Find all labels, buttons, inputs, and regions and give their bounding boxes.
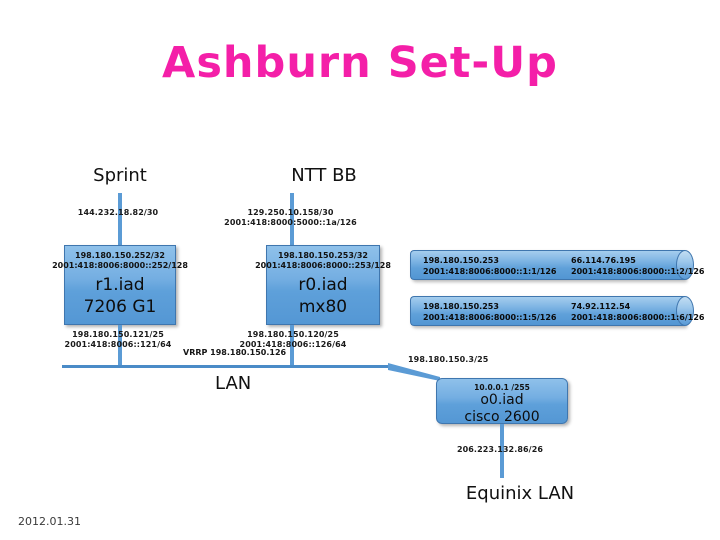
peering-bar-1[interactable]: 198.180.150.253 2001:418:8006:8000::1:1/… <box>410 250 685 280</box>
peering-bar-1-peer: 66.114.76.195 2001:418:8006:8000::1:2/12… <box>571 255 704 277</box>
lan-label: LAN <box>215 373 251 394</box>
node-r0-ipv4: 198.180.150.253/32 <box>278 251 368 260</box>
peering-bar-2[interactable]: 198.180.150.253 2001:418:8006:8000::1:5/… <box>410 296 685 326</box>
peering-bar-2-local-v6: 2001:418:8006:8000::1:5/126 <box>423 313 556 322</box>
provider-label-sprint: Sprint <box>62 165 178 186</box>
link-line-lan-to-o0 <box>388 363 440 381</box>
node-r1-ipv6: 2001:418:8006:8000::252/128 <box>52 261 188 270</box>
uplink-label-ntt-v4: 129.250.10.158/30 <box>218 208 363 218</box>
vrrp-label: VRRP 198.180.150.126 <box>183 348 286 357</box>
uplink-label-ntt-v6: 2001:418:8000:5000::1a/126 <box>218 218 363 228</box>
downlink-label-o0: 206.223.132.86/26 <box>440 445 560 455</box>
downlink-label-r0-v4: 198.180.150.120/25 <box>222 330 364 340</box>
node-r1-ipv4: 198.180.150.252/32 <box>75 251 165 260</box>
page-title: Ashburn Set-Up <box>0 38 720 88</box>
node-box-o0-iad[interactable]: 10.0.0.1 /255 o0.iad cisco 2600 <box>436 378 568 424</box>
provider-label-ntt-bb: NTT BB <box>266 165 382 186</box>
node-r1-ip: 198.180.150.252/32 2001:418:8006:8000::2… <box>43 251 197 271</box>
link-line-sprint-to-r1 <box>118 193 122 245</box>
peering-bar-2-peer: 74.92.112.54 2001:418:8006:8000::1:6/126 <box>571 301 704 323</box>
node-o0-name: o0.iad <box>437 392 567 409</box>
node-r0-ip: 198.180.150.253/32 2001:418:8006:8000::2… <box>245 251 401 271</box>
slide-canvas: Ashburn Set-Up Sprint NTT BB Equinix LAN… <box>0 0 720 540</box>
downlink-label-r1-v6: 2001:418:8006::121/64 <box>48 340 188 350</box>
downlink-label-r1-v4: 198.180.150.121/25 <box>48 330 188 340</box>
node-r1-model: 7206 G1 <box>65 296 175 318</box>
node-o0-ipv4: 10.0.0.1 /255 <box>437 383 567 392</box>
peering-bar-1-local: 198.180.150.253 2001:418:8006:8000::1:1/… <box>423 255 556 277</box>
peering-bar-1-peer-v6: 2001:418:8006:8000::1:2/126 <box>571 267 704 276</box>
peering-bar-2-peer-v6: 2001:418:8006:8000::1:6/126 <box>571 313 704 322</box>
peering-bar-1-local-v4: 198.180.150.253 <box>423 256 499 265</box>
node-r0-ipv6: 2001:418:8006:8000::253/128 <box>255 261 391 270</box>
node-r1-name: r1.iad <box>65 274 175 296</box>
lan-bus-line <box>62 365 392 368</box>
peering-bar-2-local: 198.180.150.253 2001:418:8006:8000::1:5/… <box>423 301 556 323</box>
node-r0-name: r0.iad <box>267 274 379 296</box>
node-r0-model: mx80 <box>267 296 379 318</box>
uplink-label-sprint-v4: 144.232.18.82/30 <box>48 208 188 218</box>
node-box-r0-iad[interactable]: 198.180.150.253/32 2001:418:8006:8000::2… <box>266 245 380 325</box>
uplink-label-o0: 198.180.150.3/25 <box>408 355 528 365</box>
peering-bar-1-local-v6: 2001:418:8006:8000::1:1/126 <box>423 267 556 276</box>
peering-bar-2-peer-v4: 74.92.112.54 <box>571 302 630 311</box>
peering-bar-1-peer-v4: 66.114.76.195 <box>571 256 636 265</box>
peering-bar-2-local-v4: 198.180.150.253 <box>423 302 499 311</box>
node-box-r1-iad[interactable]: 198.180.150.252/32 2001:418:8006:8000::2… <box>64 245 176 325</box>
provider-label-equinix-lan: Equinix LAN <box>420 483 620 504</box>
footer-date: 2012.01.31 <box>18 515 81 528</box>
